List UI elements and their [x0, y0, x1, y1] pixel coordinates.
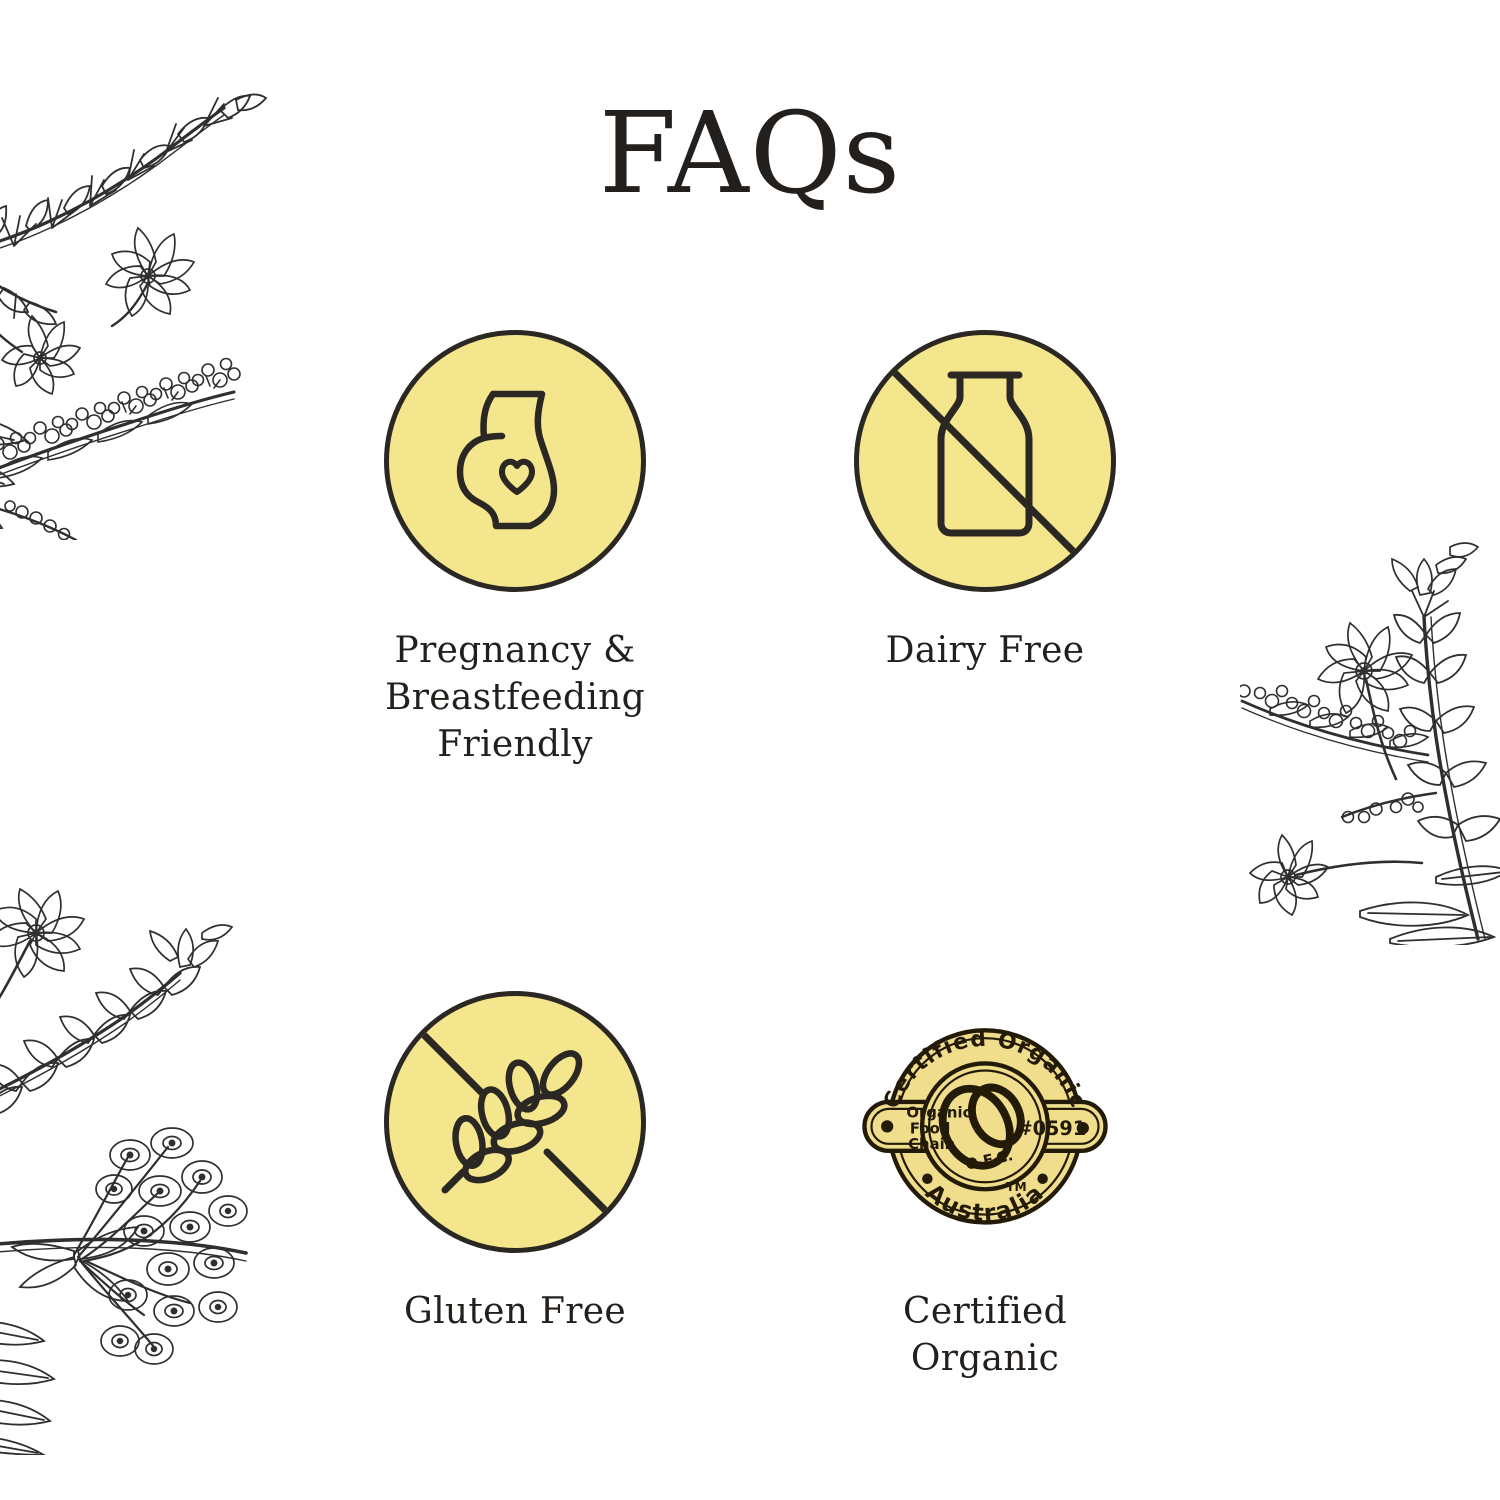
certified-organic-badge-circle: Certified Organic Australia — [854, 991, 1116, 1253]
faq-item-certified-organic: Certified Organic Australia — [750, 768, 1220, 1383]
seal-trademark-text: TM — [1006, 1180, 1026, 1194]
pregnant-belly-heart-icon — [430, 376, 600, 546]
faq-label-dairy-free: Dairy Free — [886, 628, 1085, 675]
faq-item-dairy-free: Dairy Free — [750, 330, 1220, 768]
page-title: FAQs — [0, 96, 1500, 214]
faq-label-gluten-free: Gluten Free — [404, 1289, 626, 1336]
botanical-bottom-left-illustration — [0, 855, 278, 1455]
seal-left-banner-line2: Food — [910, 1121, 951, 1138]
faq-row: Gluten Free — [280, 768, 1220, 1383]
faq-row: Pregnancy & Breastfeeding Friendly — [280, 330, 1220, 768]
dairy-free-badge-circle — [854, 330, 1116, 592]
faq-label-certified-organic: Certified Organic — [903, 1289, 1067, 1383]
botanical-right-illustration — [1240, 525, 1500, 945]
pregnancy-badge-circle — [384, 330, 646, 592]
organic-food-chain-seal-icon: Certified Organic Australia — [854, 991, 1116, 1253]
faq-page: FAQs — [0, 0, 1500, 1500]
faq-label-pregnancy-breastfeeding-friendly: Pregnancy & Breastfeeding Friendly — [385, 628, 645, 768]
wheat-grain-crossed-out-icon — [389, 996, 641, 1248]
faq-item-pregnancy-breastfeeding-friendly: Pregnancy & Breastfeeding Friendly — [280, 330, 750, 768]
gluten-free-badge-circle — [384, 991, 646, 1253]
faq-badge-grid: Pregnancy & Breastfeeding Friendly — [280, 330, 1220, 1383]
seal-left-banner-line3: Chain — [908, 1136, 955, 1153]
faq-item-gluten-free: Gluten Free — [280, 768, 750, 1383]
milk-bottle-crossed-out-icon — [859, 335, 1111, 587]
seal-right-banner-text: #0591 — [1017, 1117, 1087, 1140]
seal-left-banner-line1: Organic — [906, 1105, 971, 1122]
